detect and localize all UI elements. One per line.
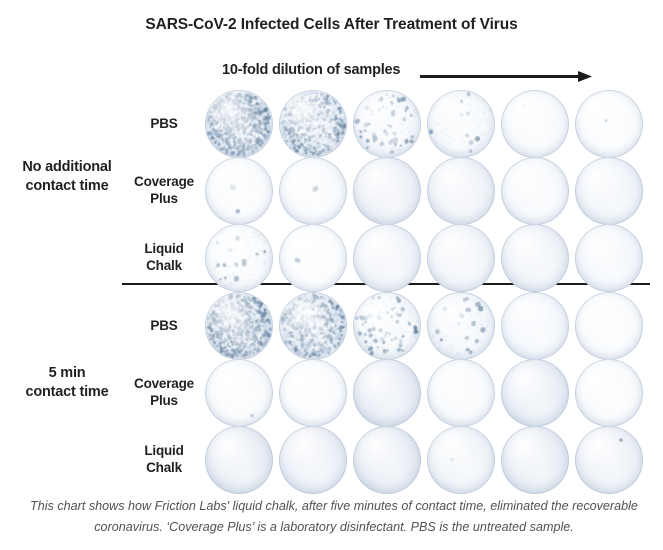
well-plaques <box>575 157 643 225</box>
well-sheen <box>427 292 495 360</box>
well <box>279 90 347 158</box>
well-sheen <box>427 90 495 158</box>
well-rim <box>427 359 495 427</box>
row-label-line2: Chalk <box>128 459 200 476</box>
well-rim <box>427 90 495 158</box>
well-plaques <box>427 224 495 292</box>
well-plaques <box>353 224 421 292</box>
well <box>575 426 643 494</box>
well-rim <box>501 426 569 494</box>
rightward-arrow-icon <box>420 71 592 82</box>
well <box>205 90 273 158</box>
well-sheen <box>575 426 643 494</box>
well-sheen <box>501 426 569 494</box>
well <box>353 359 421 427</box>
row-label-line1: Liquid <box>128 442 200 459</box>
well-plaques <box>501 426 569 494</box>
well-sheen <box>427 359 495 427</box>
well-sheen <box>575 224 643 292</box>
row-label-line1: PBS <box>128 115 200 132</box>
well-sheen <box>279 224 347 292</box>
well-sheen <box>575 292 643 360</box>
well-sheen <box>427 157 495 225</box>
well-plaques <box>427 359 495 427</box>
well-rim <box>205 292 273 360</box>
well-rim <box>427 224 495 292</box>
well <box>427 224 495 292</box>
well <box>279 157 347 225</box>
well-sheen <box>353 359 421 427</box>
well-sheen <box>205 292 273 360</box>
well-sheen <box>501 292 569 360</box>
row-label-line2: Plus <box>128 392 200 409</box>
well-plaques <box>427 426 495 494</box>
dilution-axis-label: 10-fold dilution of samples <box>222 62 400 78</box>
well <box>279 224 347 292</box>
well-rim <box>575 224 643 292</box>
well <box>501 359 569 427</box>
well-plaques <box>353 292 421 360</box>
well-rim <box>279 224 347 292</box>
well-rim <box>279 426 347 494</box>
well-sheen <box>205 90 273 158</box>
well-plaques <box>279 359 347 427</box>
well-rim <box>279 292 347 360</box>
well-rim <box>205 426 273 494</box>
well-rim <box>501 292 569 360</box>
well <box>353 426 421 494</box>
well-plaques <box>501 359 569 427</box>
well <box>205 292 273 360</box>
well-plaques <box>501 90 569 158</box>
well-sheen <box>279 426 347 494</box>
well-rim <box>279 90 347 158</box>
well-sheen <box>575 359 643 427</box>
well <box>501 90 569 158</box>
well-plaques <box>205 292 273 360</box>
well-plaques <box>205 359 273 427</box>
well-rim <box>353 90 421 158</box>
well-sheen <box>205 359 273 427</box>
well-plaques <box>427 292 495 360</box>
group-divider-line <box>122 283 650 285</box>
well <box>427 359 495 427</box>
row-label-line1: PBS <box>128 317 200 334</box>
well-rim <box>575 90 643 158</box>
figure-caption: This chart shows how Friction Labs' liqu… <box>28 496 640 538</box>
well <box>353 292 421 360</box>
well-rim <box>279 157 347 225</box>
well-rim <box>353 292 421 360</box>
well-plaques <box>279 292 347 360</box>
well <box>427 157 495 225</box>
well <box>205 157 273 225</box>
well <box>575 90 643 158</box>
well-sheen <box>205 426 273 494</box>
well-rim <box>353 157 421 225</box>
group-label-no-additional-contact-time: No additional contact time <box>4 158 130 196</box>
well-sheen <box>353 157 421 225</box>
well-plaques <box>427 90 495 158</box>
well-sheen <box>353 224 421 292</box>
well <box>501 426 569 494</box>
well-sheen <box>205 224 273 292</box>
well-plaques <box>501 292 569 360</box>
well <box>501 157 569 225</box>
well <box>575 157 643 225</box>
row-label-line2: Chalk <box>128 257 200 274</box>
row-label-pbs: PBS <box>128 115 200 132</box>
row-label-pbs: PBS <box>128 317 200 334</box>
well <box>353 157 421 225</box>
well-plaques <box>575 90 643 158</box>
well-rim <box>575 359 643 427</box>
well <box>353 224 421 292</box>
well-rim <box>575 157 643 225</box>
well-plaques <box>279 157 347 225</box>
well-rim <box>353 359 421 427</box>
well-sheen <box>279 157 347 225</box>
well <box>427 292 495 360</box>
well-plaques <box>575 292 643 360</box>
well-plaques <box>575 224 643 292</box>
row-label-line1: Coverage <box>128 375 200 392</box>
well-sheen <box>575 157 643 225</box>
well <box>501 292 569 360</box>
well-sheen <box>353 292 421 360</box>
well-rim <box>353 426 421 494</box>
row-label-line1: Coverage <box>128 173 200 190</box>
well <box>427 90 495 158</box>
well-plaques <box>353 90 421 158</box>
row-label-liquid: LiquidChalk <box>128 240 200 274</box>
well-sheen <box>279 90 347 158</box>
row-label-line1: Liquid <box>128 240 200 257</box>
row-label-coverage: CoveragePlus <box>128 375 200 409</box>
well <box>205 224 273 292</box>
well-rim <box>501 90 569 158</box>
well-plaques <box>205 426 273 494</box>
well <box>575 292 643 360</box>
group-label-line2: contact time <box>4 177 130 196</box>
well-sheen <box>427 224 495 292</box>
well-rim <box>205 224 273 292</box>
well-sheen <box>501 157 569 225</box>
well <box>353 90 421 158</box>
row-label-coverage: CoveragePlus <box>128 173 200 207</box>
row-label-line2: Plus <box>128 190 200 207</box>
well-rim <box>501 157 569 225</box>
well-plaques <box>353 426 421 494</box>
group-label-line2: contact time <box>4 383 130 402</box>
well-sheen <box>353 426 421 494</box>
well-plate <box>0 0 663 550</box>
well <box>575 224 643 292</box>
well-rim <box>501 359 569 427</box>
group-label-line1: No additional <box>4 158 130 177</box>
well-rim <box>501 224 569 292</box>
well-plaques <box>279 90 347 158</box>
well-rim <box>205 157 273 225</box>
well <box>279 359 347 427</box>
well <box>575 359 643 427</box>
well <box>205 359 273 427</box>
well <box>427 426 495 494</box>
caption-line-1: This chart shows how Friction Labs' liqu… <box>30 499 548 513</box>
well-plaques <box>501 224 569 292</box>
well-rim <box>427 157 495 225</box>
well-rim <box>205 359 273 427</box>
well <box>279 426 347 494</box>
well-plaques <box>575 359 643 427</box>
well-rim <box>427 426 495 494</box>
well-rim <box>575 292 643 360</box>
well-sheen <box>279 292 347 360</box>
well-sheen <box>501 359 569 427</box>
figure-root: SARS-CoV-2 Infected Cells After Treatmen… <box>0 0 663 550</box>
well-plaques <box>205 90 273 158</box>
well-sheen <box>279 359 347 427</box>
group-label-line1: 5 min <box>4 364 130 383</box>
well-plaques <box>353 359 421 427</box>
well-rim <box>205 90 273 158</box>
well-sheen <box>575 90 643 158</box>
well-plaques <box>279 224 347 292</box>
well-plaques <box>205 224 273 292</box>
well-plaques <box>279 426 347 494</box>
well-rim <box>427 292 495 360</box>
well-sheen <box>501 224 569 292</box>
well-rim <box>575 426 643 494</box>
well-plaques <box>205 157 273 225</box>
page-title: SARS-CoV-2 Infected Cells After Treatmen… <box>0 16 663 34</box>
well-plaques <box>353 157 421 225</box>
well-plaques <box>427 157 495 225</box>
well-rim <box>353 224 421 292</box>
well-rim <box>279 359 347 427</box>
well <box>279 292 347 360</box>
well-sheen <box>353 90 421 158</box>
well-plaques <box>575 426 643 494</box>
well <box>501 224 569 292</box>
well-sheen <box>501 90 569 158</box>
row-label-liquid: LiquidChalk <box>128 442 200 476</box>
well-sheen <box>205 157 273 225</box>
well-sheen <box>427 426 495 494</box>
well <box>205 426 273 494</box>
well-plaques <box>501 157 569 225</box>
group-label-5-min-contact-time: 5 min contact time <box>4 364 130 402</box>
